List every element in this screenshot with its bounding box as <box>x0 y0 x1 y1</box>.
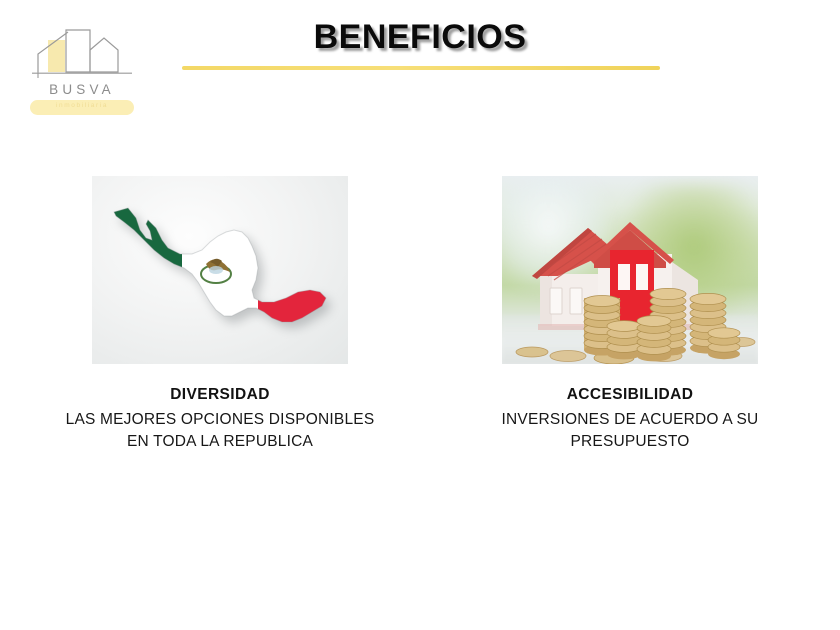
benefit-heading: ACCESIBILIDAD <box>430 386 830 404</box>
benefit-body-line: INVERSIONES DE ACUERDO A SU <box>430 409 830 431</box>
benefit-heading: DIVERSIDAD <box>20 386 420 404</box>
title-underline-rule <box>182 66 660 70</box>
mexico-map-shape <box>106 198 334 346</box>
benefit-body: INVERSIONES DE ACUERDO A SU PRESUPUESTO <box>430 409 830 453</box>
logo-subtitle-band: inmobiliaria <box>30 100 134 115</box>
house-and-coins-illustration <box>502 176 758 364</box>
benefit-body: LAS MEJORES OPCIONES DISPONIBLES EN TODA… <box>20 409 420 453</box>
coin-stack <box>708 328 740 359</box>
logo-wordmark: BUSVA <box>28 82 136 97</box>
benefit-card-accesibilidad: ACCESIBILIDAD INVERSIONES DE ACUERDO A S… <box>430 176 830 453</box>
benefit-body-line: LAS MEJORES OPCIONES DISPONIBLES <box>20 409 420 431</box>
mexico-flag-map-photo <box>92 176 348 364</box>
benefit-body-line: PRESUPUESTO <box>430 431 830 453</box>
logo-subtitle: inmobiliaria <box>30 102 134 109</box>
coin-stack <box>607 321 641 360</box>
slide-canvas: BUSVA inmobiliaria BENEFICIOS <box>0 0 840 630</box>
slide-title: BENEFICIOS <box>0 18 840 57</box>
benefit-card-diversidad: DIVERSIDAD LAS MEJORES OPCIONES DISPONIB… <box>20 176 420 453</box>
house-and-coins-photo <box>502 176 758 364</box>
benefit-body-line: EN TODA LA REPUBLICA <box>20 431 420 453</box>
coin-stack <box>637 316 671 362</box>
